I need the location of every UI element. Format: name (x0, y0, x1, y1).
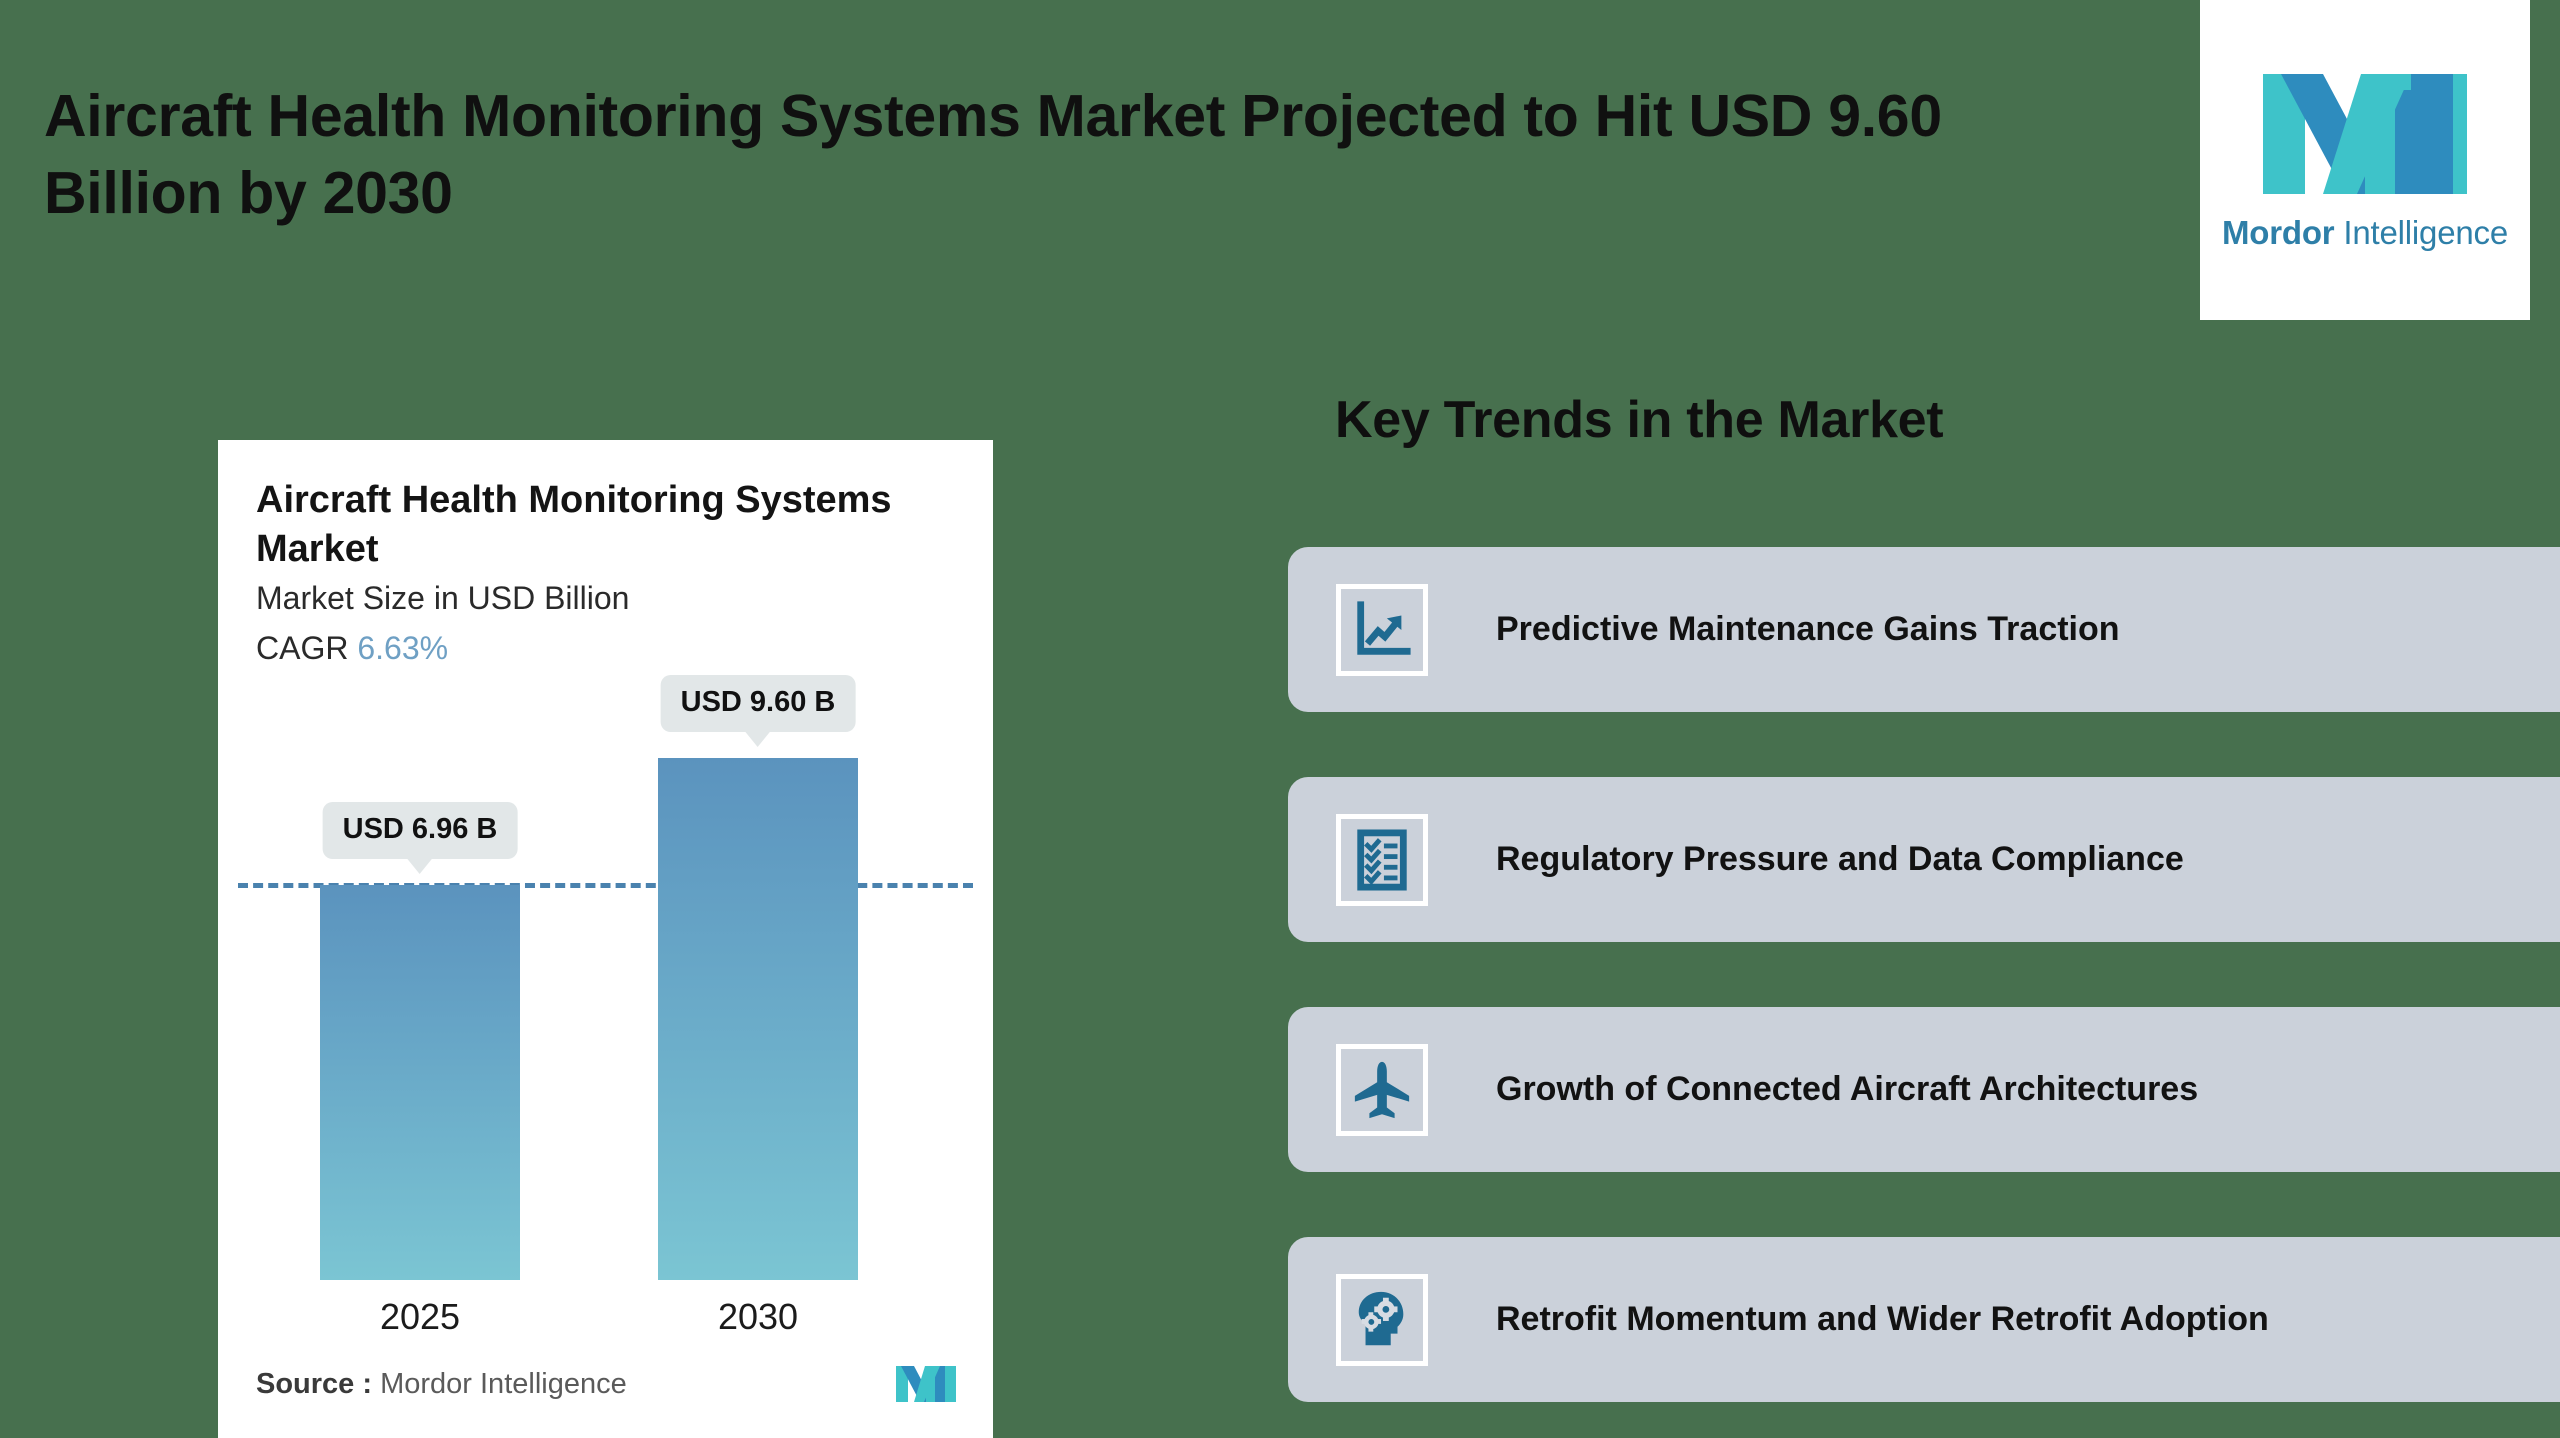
market-size-chart-card: Aircraft Health Monitoring Systems Marke… (218, 440, 993, 1438)
trend-label: Regulatory Pressure and Data Compliance (1496, 838, 2184, 881)
chart-source-row: Source : Mordor Intelligence (256, 1364, 957, 1404)
infographic-canvas: Aircraft Health Monitoring Systems Marke… (0, 0, 2560, 1438)
bar-2030 (658, 758, 858, 1280)
brand-logo-panel: Mordor Intelligence (2200, 0, 2530, 320)
checklist-icon (1336, 814, 1428, 906)
trend-list: Predictive Maintenance Gains Traction Re… (1288, 547, 2560, 1438)
chart-subtitle: Market Size in USD Billion (256, 580, 629, 617)
x-axis-label-2025: 2025 (380, 1296, 460, 1338)
logo-word-light: Intelligence (2334, 214, 2508, 251)
logo-word-bold: Mordor (2222, 214, 2334, 251)
x-axis-label-2030: 2030 (718, 1296, 798, 1338)
cagr-label: CAGR (256, 630, 357, 666)
trend-label: Predictive Maintenance Gains Traction (1496, 608, 2120, 651)
bar-2025 (320, 885, 520, 1280)
trends-heading: Key Trends in the Market (1335, 390, 1943, 450)
chart-title: Aircraft Health Monitoring Systems Marke… (256, 476, 916, 573)
trend-label: Retrofit Momentum and Wider Retrofit Ado… (1496, 1298, 2269, 1341)
trend-card-predictive-maintenance[interactable]: Predictive Maintenance Gains Traction (1288, 547, 2560, 712)
growth-chart-icon (1336, 584, 1428, 676)
source-text: Source : Mordor Intelligence (256, 1368, 627, 1401)
page-title: Aircraft Health Monitoring Systems Marke… (44, 78, 2104, 231)
cagr-value: 6.63% (357, 630, 448, 666)
head-gears-icon (1336, 1274, 1428, 1366)
value-label-2025: USD 6.96 B (323, 802, 518, 859)
source-label: Source : (256, 1368, 372, 1400)
airplane-icon (1336, 1044, 1428, 1136)
value-label-2030: USD 9.60 B (661, 675, 856, 732)
trend-label: Growth of Connected Aircraft Architectur… (1496, 1068, 2198, 1111)
mordor-intelligence-mark-icon (2261, 68, 2469, 200)
trend-card-connected-aircraft[interactable]: Growth of Connected Aircraft Architectur… (1288, 1007, 2560, 1172)
trend-card-regulatory-pressure[interactable]: Regulatory Pressure and Data Compliance (1288, 777, 2560, 942)
logo-wordmark: Mordor Intelligence (2222, 214, 2508, 252)
chart-cagr: CAGR 6.63% (256, 630, 448, 667)
bar-chart-plot-area: USD 6.96 B USD 9.60 B 2025 2030 (218, 690, 993, 1330)
source-value: Mordor Intelligence (372, 1368, 627, 1400)
mordor-intelligence-small-mark-icon (895, 1364, 957, 1404)
trend-card-retrofit-momentum[interactable]: Retrofit Momentum and Wider Retrofit Ado… (1288, 1237, 2560, 1402)
